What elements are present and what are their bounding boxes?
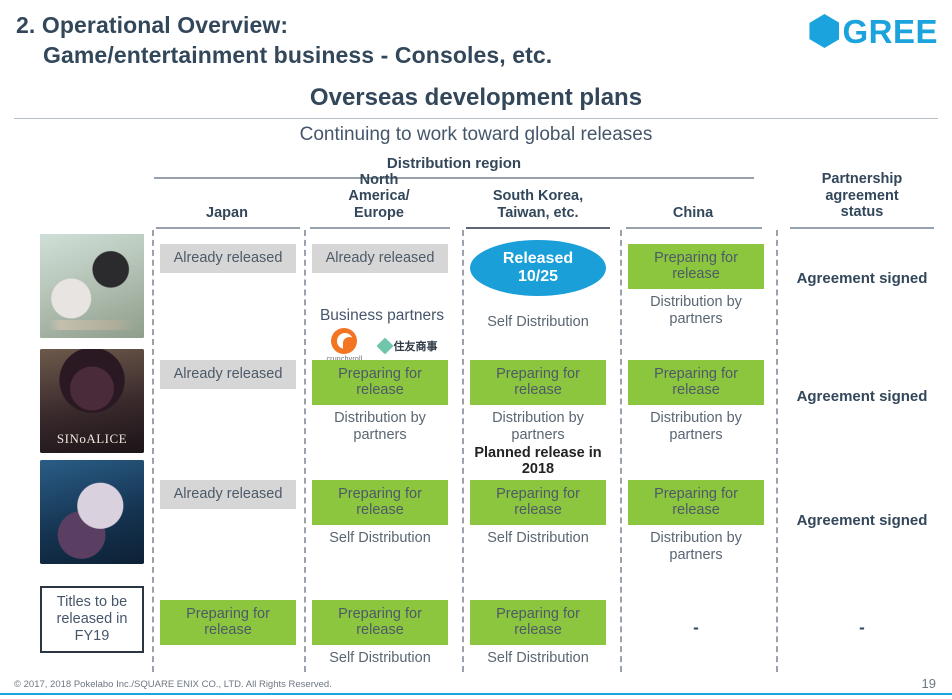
copyright-text: © 2017, 2018 Pokelabo Inc./SQUARE ENIX C… <box>14 679 332 690</box>
distribution-note: Self Distribution <box>470 650 606 666</box>
cell-japan: Already released <box>160 480 296 509</box>
page-title: 2. Operational Overview: Game/entertainm… <box>16 10 776 71</box>
cell-japan: Preparing for release <box>160 600 296 645</box>
status-badge: Preparing for release <box>160 600 296 645</box>
distribution-note: Distribution by partners <box>628 410 764 442</box>
game-thumbnail-another-eden <box>40 460 144 564</box>
cell-south-korea-taiwan: Released 10/25 Self Distribution <box>470 240 606 330</box>
status-badge: Already released <box>312 244 448 273</box>
column-header-china: China <box>620 180 766 224</box>
game-thumbnail-danmachi <box>40 234 144 338</box>
column-header-south-korea-taiwan: South Korea, Taiwan, etc. <box>462 180 614 224</box>
distribution-note: Distribution by partners <box>312 410 448 442</box>
business-partners-label: Business partners <box>306 307 458 324</box>
column-header-partnership-status: Partnership agreement status <box>784 168 940 226</box>
page-title-line1: 2. Operational Overview: <box>16 12 288 38</box>
fy19-titles-label: Titles to be released in FY19 <box>40 586 144 653</box>
status-badge: Preparing for release <box>470 600 606 645</box>
cell-partnership-status: Agreement signed <box>784 270 940 287</box>
column-header-north-america-europe: North America/ Europe <box>304 180 454 224</box>
column-separator-3 <box>462 230 464 672</box>
gree-logo-text: GREE <box>842 15 938 48</box>
column-separator-2 <box>304 230 306 672</box>
distribution-note: Distribution by partners <box>470 410 606 442</box>
column-separator-4 <box>620 230 622 672</box>
distribution-note: Self Distribution <box>312 530 448 546</box>
status-badge: Preparing for release <box>628 480 764 525</box>
distribution-region-header: Distribution region <box>152 155 756 172</box>
diamond-icon <box>376 337 393 354</box>
distribution-note: Distribution by partners <box>628 530 764 562</box>
sumitomo-logo-text: 住友商事 <box>394 338 438 354</box>
status-badge: Already released <box>160 244 296 273</box>
distribution-note: Distribution by partners <box>628 294 764 326</box>
status-badge: Preparing for release <box>470 360 606 405</box>
released-oval-badge: Released 10/25 <box>470 240 606 296</box>
released-label: Released <box>503 250 573 268</box>
cell-china: - <box>628 618 764 638</box>
cell-partnership-status: Agreement signed <box>784 512 940 529</box>
cell-china: Preparing for release Distribution by pa… <box>628 360 764 443</box>
cell-north-america-europe: Already released <box>312 244 448 273</box>
cell-japan: Already released <box>160 360 296 389</box>
status-badge: Preparing for release <box>312 480 448 525</box>
released-date: 10/25 <box>518 268 558 286</box>
business-partners-block: Business partners crunchyroll 住友商事 <box>306 307 458 363</box>
sumitomo-logo: 住友商事 <box>379 338 438 354</box>
cell-north-america-europe: Preparing for release Self Distribution <box>312 480 448 547</box>
footer-divider <box>0 693 952 695</box>
crunchyroll-icon <box>331 328 357 354</box>
status-badge: Already released <box>160 360 296 389</box>
column-rule-na-eu <box>310 227 450 229</box>
section-title: Overseas development plans <box>0 84 952 112</box>
distribution-note: Self Distribution <box>470 314 606 330</box>
status-badge: Preparing for release <box>628 244 764 289</box>
cell-north-america-europe: Preparing for release Self Distribution <box>312 600 448 667</box>
cell-south-korea-taiwan: Preparing for release Distribution by pa… <box>470 360 606 477</box>
cell-north-america-europe: Preparing for release Distribution by pa… <box>312 360 448 443</box>
distribution-table: Distribution region Japan North America/… <box>0 152 952 672</box>
cell-partnership-status: Agreement signed <box>784 388 940 405</box>
section-subtitle: Continuing to work toward global release… <box>0 124 952 146</box>
column-separator-5 <box>776 230 778 672</box>
header-divider <box>14 118 938 119</box>
gree-logo: GREE <box>809 14 938 48</box>
column-rule-status <box>790 227 934 229</box>
status-badge: Preparing for release <box>312 360 448 405</box>
column-rule-japan <box>156 227 300 229</box>
crunchyroll-logo: crunchyroll <box>326 328 362 363</box>
page-title-line2: Game/entertainment business - Consoles, … <box>16 40 776 70</box>
cell-china: Preparing for release Distribution by pa… <box>628 244 764 327</box>
distribution-note: Self Distribution <box>312 650 448 666</box>
distribution-note: Self Distribution <box>470 530 606 546</box>
distribution-region-underline <box>154 177 754 179</box>
column-separator-1 <box>152 230 154 672</box>
game-thumbnail-sinoalice: SINoALICE <box>40 349 144 453</box>
status-badge: Already released <box>160 480 296 509</box>
column-header-japan: Japan <box>152 180 302 224</box>
column-rule-china <box>626 227 762 229</box>
cell-japan: Already released <box>160 244 296 273</box>
hexagon-icon <box>809 14 839 48</box>
cell-china: Preparing for release Distribution by pa… <box>628 480 764 563</box>
page-number: 19 <box>922 676 936 691</box>
status-badge: Preparing for release <box>312 600 448 645</box>
planned-release-note: Planned release in 2018 <box>470 445 606 477</box>
cell-south-korea-taiwan: Preparing for release Self Distribution <box>470 600 606 667</box>
cell-partnership-status: - <box>784 618 940 638</box>
column-rule-korea <box>466 227 610 229</box>
status-badge: Preparing for release <box>470 480 606 525</box>
cell-south-korea-taiwan: Preparing for release Self Distribution <box>470 480 606 547</box>
status-badge: Preparing for release <box>628 360 764 405</box>
